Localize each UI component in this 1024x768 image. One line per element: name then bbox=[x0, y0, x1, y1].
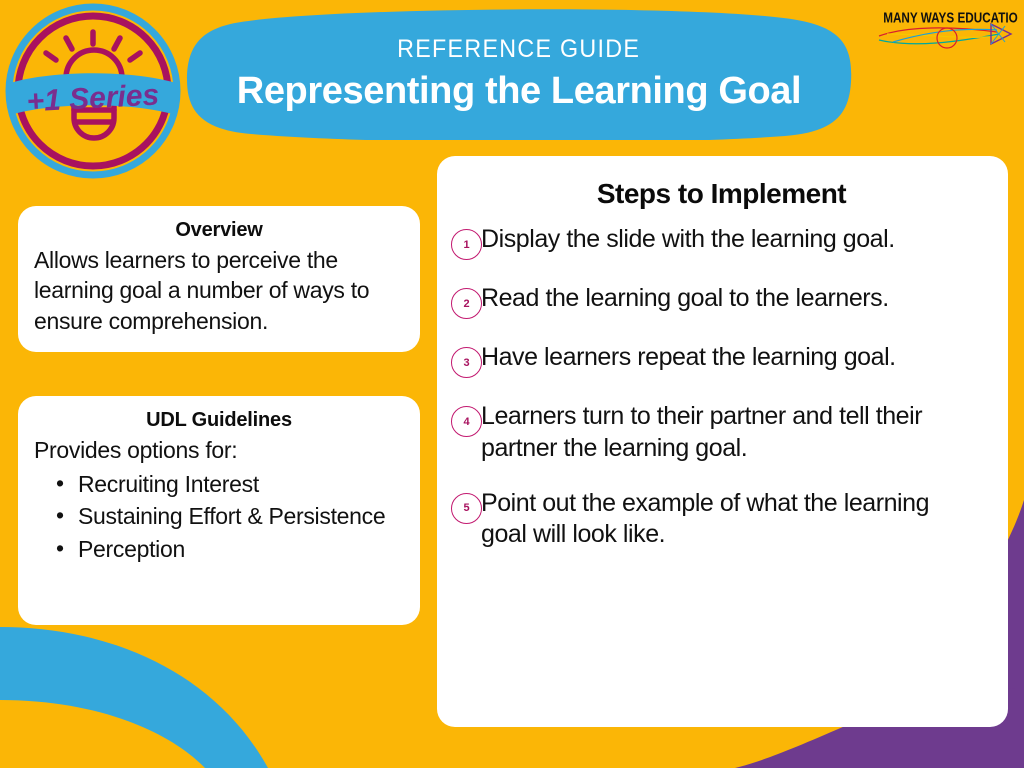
badge-label: +1 Series bbox=[26, 79, 160, 119]
step-text: Display the slide with the learning goal… bbox=[481, 224, 899, 256]
step-number-badge: 5 bbox=[451, 493, 482, 524]
step-item: 1 Display the slide with the learning go… bbox=[445, 224, 984, 260]
step-number-badge: 1 bbox=[451, 229, 482, 260]
overview-card: Overview Allows learners to perceive the… bbox=[18, 206, 420, 352]
steps-title: Steps to Implement bbox=[459, 178, 984, 210]
steps-to-implement-card: Steps to Implement 1 Display the slide w… bbox=[437, 156, 1008, 727]
step-number-badge: 4 bbox=[451, 406, 482, 437]
steps-list: 1 Display the slide with the learning go… bbox=[445, 224, 984, 551]
step-number-badge: 2 bbox=[451, 288, 482, 319]
udl-intro-text: Provides options for: bbox=[34, 435, 404, 467]
udl-list: Recruiting Interest Sustaining Effort & … bbox=[34, 468, 404, 566]
step-text: Have learners repeat the learning goal. bbox=[481, 342, 900, 374]
many-ways-education-logo: MANY WAYS EDUCATION bbox=[873, 4, 1018, 52]
arrow-swoosh-icon bbox=[879, 24, 1011, 48]
list-item: Perception bbox=[34, 533, 404, 566]
step-item: 2 Read the learning goal to the learners… bbox=[445, 283, 984, 319]
overview-body: Allows learners to perceive the learning… bbox=[34, 245, 404, 336]
brand-name-text: MANY WAYS EDUCATION bbox=[883, 10, 1018, 26]
step-item: 5 Point out the example of what the lear… bbox=[445, 488, 984, 552]
udl-guidelines-card: UDL Guidelines Provides options for: Rec… bbox=[18, 396, 420, 625]
plus-one-series-badge: +1 Series bbox=[4, 2, 182, 180]
header-banner-shape bbox=[185, 4, 853, 140]
list-item: Recruiting Interest bbox=[34, 468, 404, 501]
overview-title: Overview bbox=[34, 218, 404, 243]
step-item: 4 Learners turn to their partner and tel… bbox=[445, 401, 984, 465]
step-text: Learners turn to their partner and tell … bbox=[481, 401, 984, 465]
udl-title: UDL Guidelines bbox=[34, 408, 404, 433]
step-text: Read the learning goal to the learners. bbox=[481, 283, 893, 315]
list-item: Sustaining Effort & Persistence bbox=[34, 500, 404, 533]
step-number-badge: 3 bbox=[451, 347, 482, 378]
step-text: Point out the example of what the learni… bbox=[481, 488, 984, 552]
step-item: 3 Have learners repeat the learning goal… bbox=[445, 342, 984, 378]
